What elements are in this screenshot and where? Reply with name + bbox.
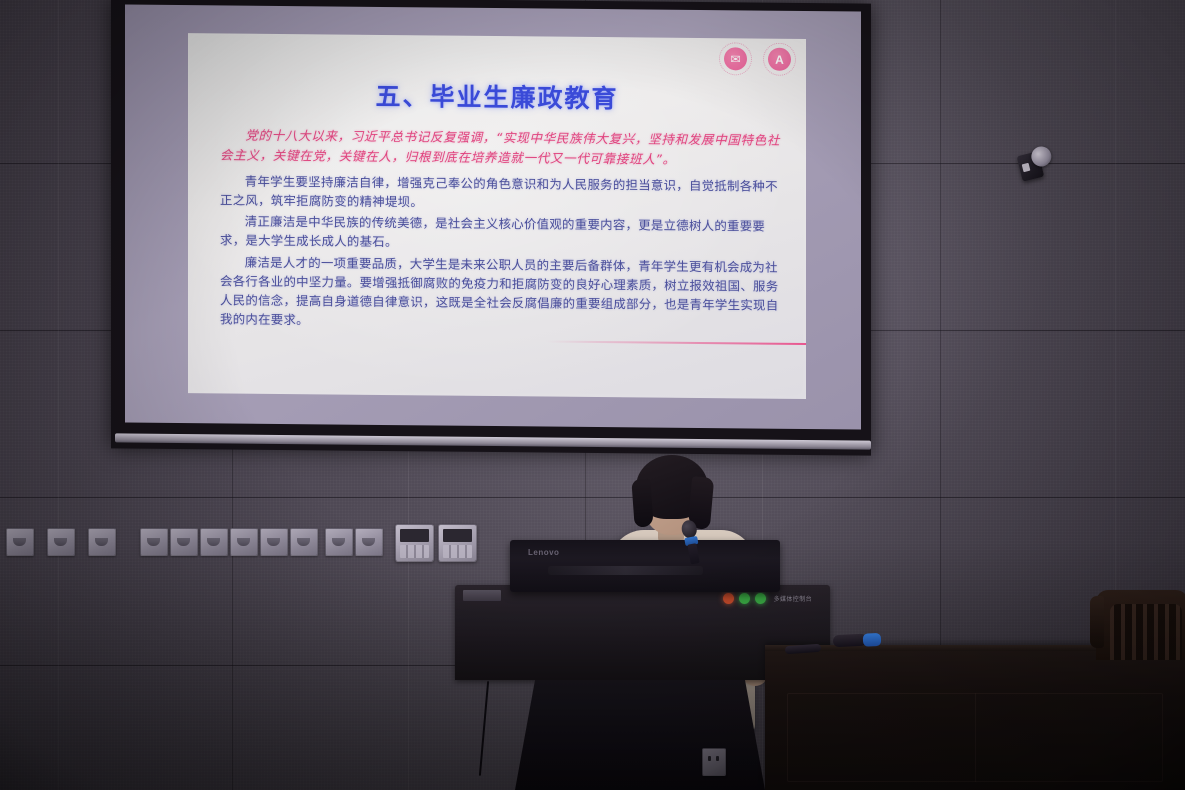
light-switch[interactable] xyxy=(200,528,228,556)
light-switch[interactable] xyxy=(47,528,75,556)
university-emblem-right-icon: A xyxy=(763,43,796,76)
light-switch[interactable] xyxy=(290,528,318,556)
light-switch[interactable] xyxy=(88,528,116,556)
light-switch[interactable] xyxy=(230,528,258,556)
slide-decorative-rule xyxy=(546,341,806,345)
projection-surface: ✉ A 五、毕业生廉政教育 党的十八大以来，习近平总书记反复强调，“实现中华民族… xyxy=(125,4,861,429)
ac-control-panel[interactable] xyxy=(438,524,477,562)
slide-body: 党的十八大以来，习近平总书记反复强调，“实现中华民族伟大复兴，坚持和发展中国特色… xyxy=(220,125,788,337)
wall-seam xyxy=(0,497,1185,498)
light-switch[interactable] xyxy=(6,528,34,556)
slide-paragraph-quote: 党的十八大以来，习近平总书记反复强调，“实现中华民族伟大复兴，坚持和发展中国特色… xyxy=(220,125,788,171)
slide-logo-group: ✉ A xyxy=(719,42,796,76)
ac-panel-display xyxy=(400,529,429,542)
podium-control-label: 多媒体控制台 xyxy=(774,594,812,603)
podium-indicator-lights: 多媒体控制台 xyxy=(723,593,812,604)
presentation-slide: ✉ A 五、毕业生廉政教育 党的十八大以来，习近平总书记反复强调，“实现中华民族… xyxy=(188,33,806,399)
chair-slats xyxy=(1110,604,1182,660)
light-switch[interactable] xyxy=(170,528,198,556)
slide-paragraph-1: 青年学生要坚持廉洁自律，增强克己奉公的角色意识和为人民服务的担当意识，自觉抵制各… xyxy=(220,172,788,215)
slide-paragraph-3: 廉洁是人才的一项重要品质，大学生是未来公职人员的主要后备群体，青年学生更有机会成… xyxy=(220,254,788,335)
status-indicator-2-icon xyxy=(755,593,766,604)
projection-screen: ✉ A 五、毕业生廉政教育 党的十八大以来，习近平总书记反复强调，“实现中华民族… xyxy=(111,0,871,456)
university-emblem-left-icon: ✉ xyxy=(719,42,752,75)
light-switch[interactable] xyxy=(355,528,383,556)
podium-cable xyxy=(479,681,489,776)
ac-panel-buttons[interactable] xyxy=(400,545,429,558)
microphone-stem xyxy=(687,543,699,564)
podium-column xyxy=(515,680,765,790)
wooden-slat-chair xyxy=(1090,582,1185,662)
status-indicator-1-icon xyxy=(739,593,750,604)
lecture-hall-photo: ✉ A 五、毕业生廉政教育 党的十八大以来，习近平总书记反复强调，“实现中华民族… xyxy=(0,0,1185,790)
slide-paragraph-2: 清正廉洁是中华民族的传统美德，是社会主义核心价值观的重要内容，更是立德树人的重要… xyxy=(220,213,788,256)
wall-seam xyxy=(58,0,59,790)
slide-title: 五、毕业生廉政教育 xyxy=(188,75,806,117)
ac-panel-buttons[interactable] xyxy=(443,545,472,558)
power-indicator-icon xyxy=(723,593,734,604)
light-switch[interactable] xyxy=(260,528,288,556)
ac-control-panel[interactable] xyxy=(395,524,434,562)
chair-armrest xyxy=(1090,596,1104,648)
presidium-table xyxy=(765,645,1185,790)
monitor-screen-glare xyxy=(548,566,703,575)
ac-panel-display xyxy=(443,529,472,542)
monitor-brand-label: Lenovo xyxy=(528,548,559,557)
podium-nameplate xyxy=(463,590,501,601)
podium-monitor: Lenovo xyxy=(510,540,780,592)
presenter-hair-left xyxy=(631,478,653,527)
wall-power-outlet[interactable] xyxy=(702,748,726,776)
camera-led xyxy=(1022,163,1031,172)
table-microphone-blue-grip xyxy=(863,633,882,647)
screen-weight-bar xyxy=(115,433,871,449)
chair-back xyxy=(1096,590,1185,660)
light-switch[interactable] xyxy=(140,528,168,556)
light-switch[interactable] xyxy=(325,528,353,556)
table-microphone-icon xyxy=(833,633,886,649)
table-panel-divider xyxy=(975,693,976,782)
